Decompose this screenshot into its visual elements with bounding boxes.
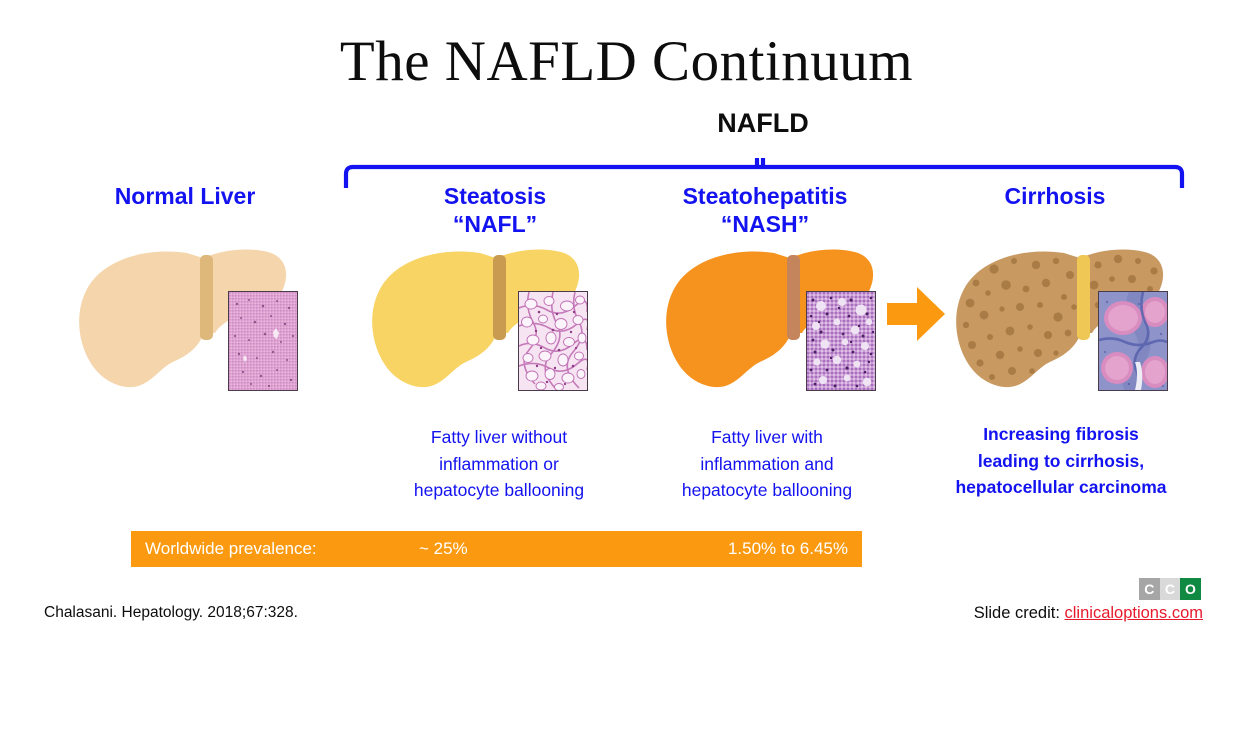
- column-heading-steatosis: Steatosis “NAFL”: [370, 182, 620, 238]
- prevalence-label: Worldwide prevalence:: [145, 539, 317, 559]
- column-heading-nash: Steatohepatitis “NASH”: [640, 182, 890, 238]
- caption-nash-line3: hepatocyte ballooning: [646, 477, 888, 504]
- prevalence-value-nafl: ~ 25%: [419, 539, 468, 559]
- citation-text: Chalasani. Hepatology. 2018;67:328.: [44, 604, 298, 622]
- caption-cirrhosis-line2: leading to cirrhosis,: [928, 448, 1194, 475]
- slide-credit-link[interactable]: clinicaloptions.com: [1065, 604, 1203, 622]
- column-heading-steatosis-line1: Steatosis: [370, 182, 620, 210]
- column-heading-steatosis-line2: “NAFL”: [370, 210, 620, 238]
- caption-steatosis-line2: inflammation or: [378, 451, 620, 478]
- cco-logo-letter-2: C: [1160, 578, 1181, 600]
- histology-nash-icon: [806, 291, 876, 391]
- caption-nash-line2: inflammation and: [646, 451, 888, 478]
- cco-logo-letter-3: O: [1180, 578, 1201, 600]
- progression-arrow-icon: [885, 285, 947, 343]
- column-heading-cirrhosis: Cirrhosis: [930, 182, 1180, 210]
- prevalence-bar: Worldwide prevalence: ~ 25% 1.50% to 6.4…: [131, 531, 862, 567]
- histology-steatosis-icon: [518, 291, 588, 391]
- prevalence-value-nash: 1.50% to 6.45%: [728, 539, 848, 559]
- caption-nash-line1: Fatty liver with: [646, 424, 888, 451]
- column-heading-cirrhosis-line1: Cirrhosis: [930, 182, 1180, 210]
- caption-steatosis: Fatty liver without inflammation or hepa…: [378, 424, 620, 504]
- caption-cirrhosis-line1: Increasing fibrosis: [928, 421, 1194, 448]
- caption-cirrhosis: Increasing fibrosis leading to cirrhosis…: [928, 421, 1194, 501]
- column-heading-normal: Normal Liver: [60, 182, 310, 210]
- page-title: The NAFLD Continuum: [0, 32, 1253, 92]
- histology-cirrhosis-icon: [1098, 291, 1168, 391]
- column-heading-nash-line2: “NASH”: [640, 210, 890, 238]
- column-heading-normal-line1: Normal Liver: [60, 182, 310, 210]
- cco-logo: C C O: [1139, 578, 1201, 600]
- cco-logo-letter-1: C: [1139, 578, 1160, 600]
- caption-nash: Fatty liver with inflammation and hepato…: [646, 424, 888, 504]
- slide-canvas: The NAFLD Continuum NAFLD Normal Liver S…: [0, 0, 1253, 751]
- caption-steatosis-line3: hepatocyte ballooning: [378, 477, 620, 504]
- column-heading-nash-line1: Steatohepatitis: [640, 182, 890, 210]
- histology-normal-icon: [228, 291, 298, 391]
- spectrum-label: NAFLD: [613, 108, 913, 139]
- slide-credit: Slide credit: clinicaloptions.com: [974, 604, 1203, 623]
- caption-cirrhosis-line3: hepatocellular carcinoma: [928, 474, 1194, 501]
- slide-credit-prefix: Slide credit:: [974, 604, 1065, 622]
- caption-steatosis-line1: Fatty liver without: [378, 424, 620, 451]
